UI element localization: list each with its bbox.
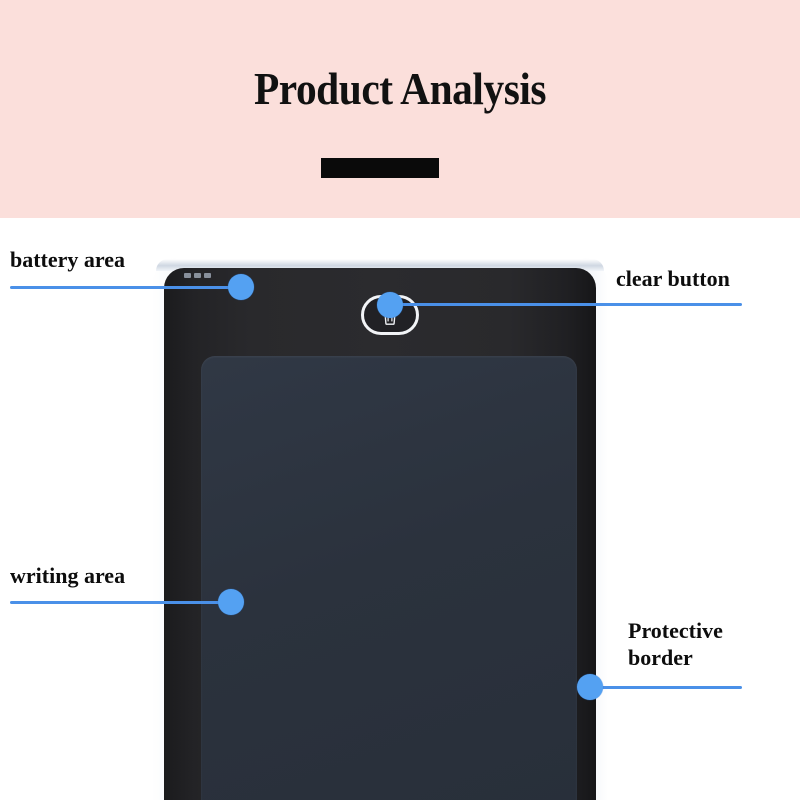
callout-line-writing-area bbox=[10, 601, 232, 604]
lcd-writing-tablet-image bbox=[152, 258, 608, 800]
callout-line-protective-border bbox=[592, 686, 742, 689]
header-band: Product Analysis bbox=[0, 0, 800, 218]
callout-line-battery-area bbox=[10, 286, 242, 289]
battery-indicator-icon bbox=[184, 273, 218, 278]
callout-label-battery-area: battery area bbox=[10, 247, 125, 274]
product-analysis-infographic: Product Analysis bbox=[0, 0, 800, 800]
callout-dot-protective-border bbox=[577, 674, 603, 700]
callout-label-writing-area: writing area bbox=[10, 563, 125, 590]
callout-dot-battery-area bbox=[228, 274, 254, 300]
writing-area[interactable] bbox=[201, 356, 577, 800]
title-underline-rule bbox=[321, 158, 439, 178]
callout-label-clear-button: clear button bbox=[616, 266, 730, 293]
callout-label-protective-border: Protective border bbox=[628, 618, 744, 672]
callout-dot-clear-button bbox=[377, 292, 403, 318]
callout-line-clear-button bbox=[390, 303, 742, 306]
page-title: Product Analysis bbox=[32, 66, 768, 113]
callout-dot-writing-area bbox=[218, 589, 244, 615]
device-body bbox=[164, 268, 596, 800]
